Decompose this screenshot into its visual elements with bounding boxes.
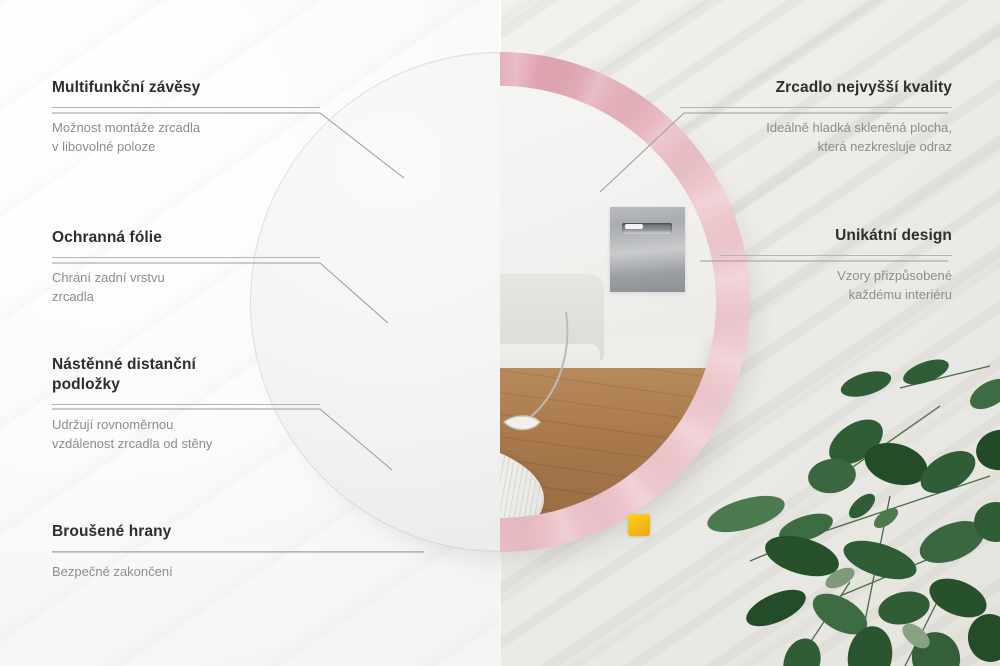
callout-description: Chrání zadní vrstvu zrcadla bbox=[52, 269, 320, 307]
callout-unikatni-design: Unikátní design Vzory přizpůsobené každé… bbox=[720, 226, 952, 305]
callout-rule bbox=[52, 107, 320, 108]
callout-brousene-hrany: Broušené hrany Bezpečné zakončení bbox=[52, 522, 424, 582]
callout-desc-line1: Ideálně hladká skleněná plocha, bbox=[766, 120, 952, 135]
callout-title: Multifunkční závěsy bbox=[52, 78, 320, 98]
spacer-pad bbox=[628, 514, 650, 536]
hanger-plate bbox=[610, 207, 685, 292]
callout-desc-line2: v libovolné poloze bbox=[52, 139, 155, 154]
callout-multifunkcni-zavesy: Multifunkční závěsy Možnost montáže zrca… bbox=[52, 78, 320, 157]
callout-desc-line2: která nezkresluje odraz bbox=[818, 139, 952, 154]
green-leaves-icon bbox=[690, 346, 1000, 666]
callout-desc-line1: Vzory přizpůsobené bbox=[837, 268, 952, 283]
callout-desc-line2: každému interiéru bbox=[849, 287, 952, 302]
callout-title-line1: Nástěnné distanční bbox=[52, 356, 196, 373]
callout-title-line2: podložky bbox=[52, 376, 120, 393]
callout-description: Ideálně hladká skleněná plocha, která ne… bbox=[680, 119, 952, 157]
callout-ochranna-folie: Ochranná fólie Chrání zadní vrstvu zrcad… bbox=[52, 228, 320, 307]
callout-nastenne-distancni-podlozky: Nástěnné distanční podložky Udržují rovn… bbox=[52, 355, 320, 454]
callout-title: Ochranná fólie bbox=[52, 228, 320, 248]
callout-desc-line1: Bezpečné zakončení bbox=[52, 564, 173, 579]
callout-rule bbox=[52, 257, 320, 258]
callout-description: Bezpečné zakončení bbox=[52, 563, 424, 582]
callout-title: Broušené hrany bbox=[52, 522, 424, 542]
callout-desc-line1: Možnost montáže zrcadla bbox=[52, 120, 200, 135]
callout-zrcadlo-nejvyssi-kvality: Zrcadlo nejvyšší kvality Ideálně hladká … bbox=[680, 78, 952, 157]
callout-rule bbox=[720, 255, 952, 256]
mirror-product bbox=[250, 52, 750, 552]
foliage-decoration bbox=[690, 346, 1000, 666]
callout-title: Nástěnné distanční podložky bbox=[52, 355, 320, 395]
callout-rule bbox=[52, 551, 424, 552]
callout-rule bbox=[52, 404, 320, 405]
callout-rule bbox=[680, 107, 952, 108]
callout-description: Možnost montáže zrcadla v libovolné polo… bbox=[52, 119, 320, 157]
callout-desc-line2: zrcadla bbox=[52, 289, 94, 304]
callout-desc-line1: Udržují rovnoměrnou bbox=[52, 417, 173, 432]
callout-desc-line2: vzdálenost zrcadla od stěny bbox=[52, 436, 212, 451]
callout-desc-line1: Chrání zadní vrstvu bbox=[52, 270, 165, 285]
callout-title: Unikátní design bbox=[720, 226, 952, 246]
callout-description: Udržují rovnoměrnou vzdálenost zrcadla o… bbox=[52, 416, 320, 454]
callout-description: Vzory přizpůsobené každému interiéru bbox=[720, 267, 952, 305]
callout-title: Zrcadlo nejvyšší kvality bbox=[680, 78, 952, 98]
hanger-slot bbox=[622, 223, 672, 234]
infographic-stage: Multifunkční závěsy Možnost montáže zrca… bbox=[0, 0, 1000, 666]
